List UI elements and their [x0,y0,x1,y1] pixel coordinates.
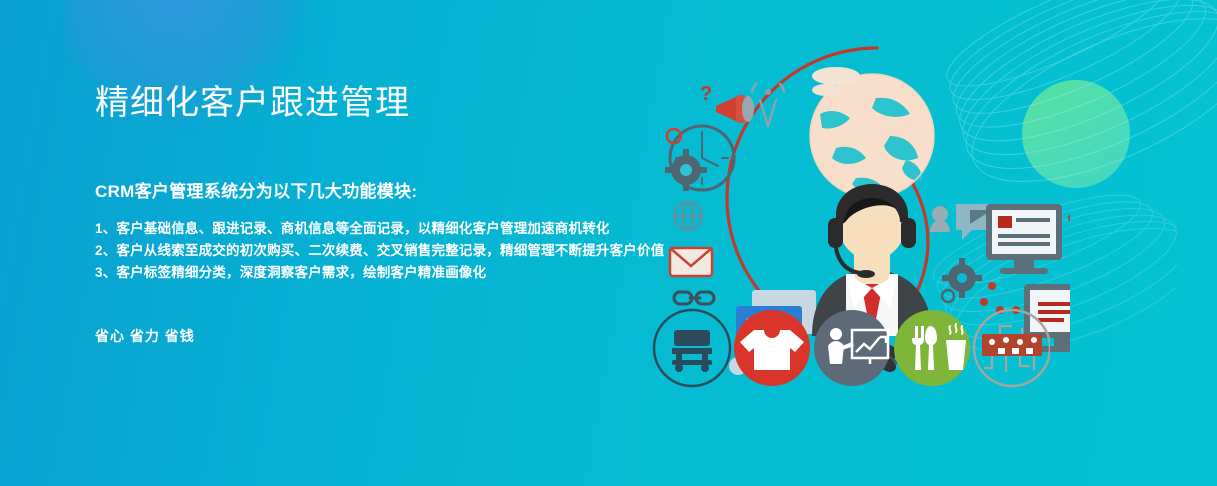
badge-logistics-truck[interactable] [654,310,730,386]
feature-list: 1、客户基础信息、跟进记录、商机信息等全面记录，以精细化客户管理加速商机转化 2… [95,218,675,284]
list-item: 3、客户标签精细分类，深度洞察客户需求，绘制客户精准画像化 [95,262,675,284]
page-title: 精细化客户跟进管理 [95,82,675,125]
badge-apparel-tshirt[interactable] [734,310,810,386]
tagline: 省心 省力 省钱 [95,326,675,346]
gear-small-icon [942,258,982,302]
subtitle: CRM客户管理系统分为以下几大功能模块: [95,177,675,202]
question-mark-icon: ? [700,83,712,105]
badge-electronics-circuit[interactable] [974,310,1050,386]
link-chain-icon [674,292,714,304]
globe-grid-icon [674,202,702,230]
monitor-icon [986,204,1062,274]
badge-catering-food[interactable] [894,310,970,386]
category-badges [650,306,1050,390]
badge-training-presentation[interactable] [814,310,890,386]
list-item: 2、客户从线索至成交的初次购买、二次续费、交叉销售完整记录，精细管理不断提升客户… [95,240,675,262]
copy-block: 精细化客户跟进管理 CRM客户管理系统分为以下几大功能模块: 1、客户基础信息、… [95,82,675,346]
antenna-signal-icon [752,84,784,126]
list-item: 1、客户基础信息、跟进记录、商机信息等全面记录，以精细化客户管理加速商机转化 [95,218,675,240]
promo-banner: 精细化客户跟进管理 CRM客户管理系统分为以下几大功能模块: 1、客户基础信息、… [0,0,1217,486]
envelope-icon [670,248,712,276]
megaphone-icon [716,95,754,123]
